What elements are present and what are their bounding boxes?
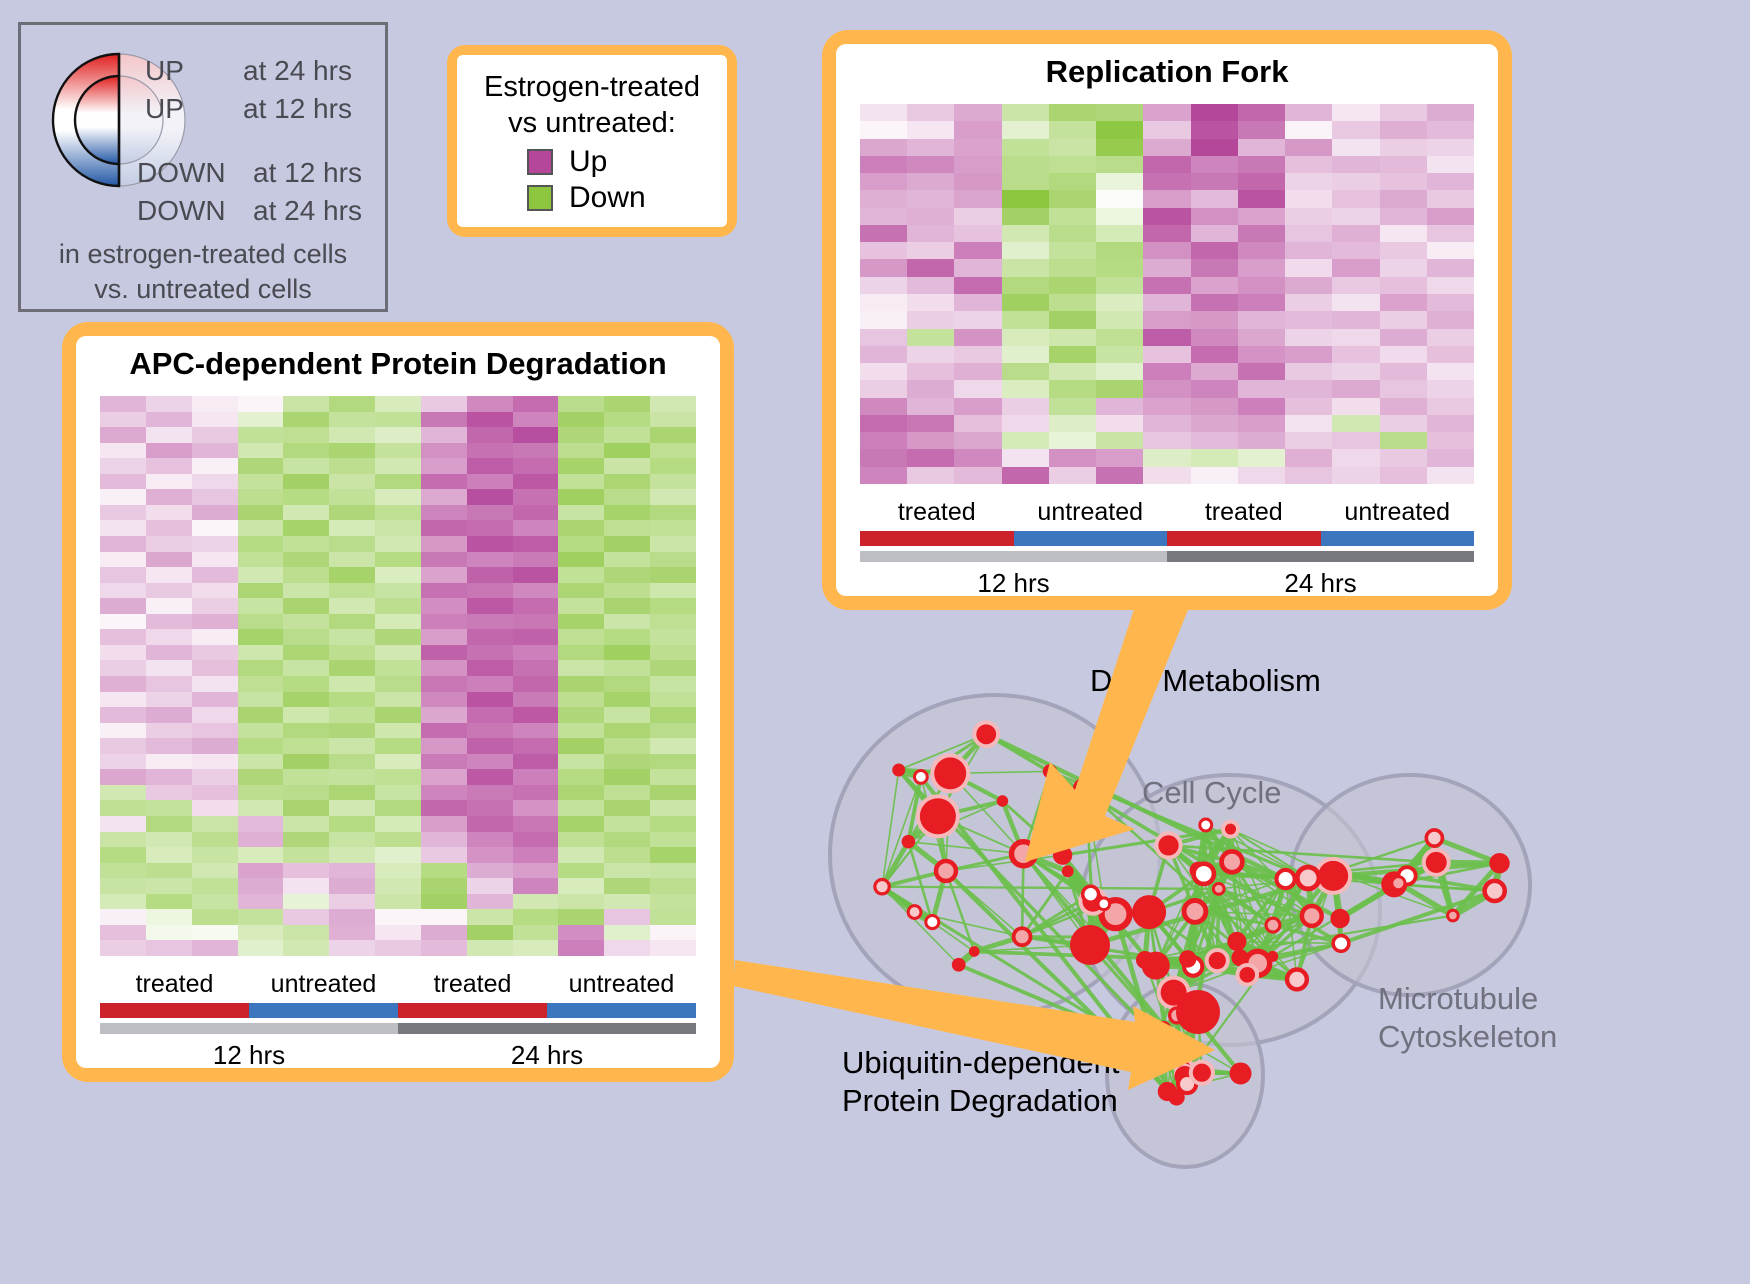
heatmap-cell [1332,398,1379,415]
heatmap-cell [1285,311,1332,328]
heatmap-cell [192,769,238,785]
heatmap-cell [1427,259,1474,276]
heatmap-cell [1191,208,1238,225]
heatmap-cell [100,598,146,614]
network-node [997,795,1008,806]
heatmap-cell [860,156,907,173]
treatment-bar-segment [398,1003,547,1018]
heatmap-cell [954,363,1001,380]
heatmap-cell [283,645,329,661]
heatmap-cell [860,329,907,346]
network-node [1128,1049,1144,1065]
heatmap-cell [1143,311,1190,328]
heatmap-cell [283,660,329,676]
heatmap-cell [1002,467,1049,484]
heatmap-cell [146,396,192,412]
heatmap-cell [238,769,284,785]
treatment-bar-segment [1321,531,1475,546]
heatmap-cell [650,598,696,614]
heatmap-cell [1002,346,1049,363]
heatmap-cell [238,816,284,832]
heatmap-cell [238,427,284,443]
heatmap-cell [100,427,146,443]
heatmap-cell [100,474,146,490]
heatmap-cell [513,707,559,723]
heatmap-cell [558,878,604,894]
apc-inner: APC-dependent Protein Degradation treate… [76,336,720,1068]
heatmap-cell [467,692,513,708]
heatmap-cell [146,723,192,739]
heatmap-cell [1332,259,1379,276]
heatmap-cell [1143,190,1190,207]
heatmap-cell [375,909,421,925]
heatmap-cell [283,863,329,879]
heatmap-cell [1143,346,1190,363]
heatmap-cell [1380,311,1427,328]
heatmap-cell [1427,208,1474,225]
heatmap-cell [146,878,192,894]
heatmap-cell [329,676,375,692]
heatmap-cell [467,536,513,552]
heatmap-cell [329,614,375,630]
heatmap-cell [421,536,467,552]
heatmap-cell [513,474,559,490]
heatmap-cell [1143,242,1190,259]
heatmap-cell [238,505,284,521]
network-node [1302,906,1322,926]
heatmap-cell [907,190,954,207]
heatmap-cell [558,940,604,956]
group-label: treated [860,498,1014,527]
heatmap-cell [192,800,238,816]
heatmap-cell [192,660,238,676]
group-label: treated [1167,498,1321,527]
heatmap-cell [238,832,284,848]
heatmap-cell [1427,329,1474,346]
heatmap-cell [146,676,192,692]
heatmap-cell [650,412,696,428]
network-node [875,880,889,894]
heatmap-cell [1049,467,1096,484]
heatmap-cell [1427,432,1474,449]
heatmap-cell [421,863,467,879]
heatmap-cell [1096,363,1143,380]
heatmap-cell [907,432,954,449]
heatmap-cell [467,847,513,863]
heatmap-cell [329,940,375,956]
heatmap-cell [375,629,421,645]
heatmap-cell [1238,277,1285,294]
heatmap-cell [1096,432,1143,449]
heatmap-cell [1096,121,1143,138]
legend-item-down: Down [527,183,717,213]
heatmap-cell [954,156,1001,173]
heatmap-cell [146,785,192,801]
heatmap-cell [421,816,467,832]
heatmap-cell [467,863,513,879]
treatment-bar-segment [547,1003,696,1018]
heatmap-cell [1427,190,1474,207]
heatmap-cell [1143,225,1190,242]
heatmap-cell [1285,415,1332,432]
heatmap-cell [375,723,421,739]
heatmap-cell [1332,121,1379,138]
heatmap-cell [467,645,513,661]
heatmap-cell [907,449,954,466]
heatmap-cell [238,552,284,568]
heatmap-cell [100,707,146,723]
heatmap-cell [1427,139,1474,156]
heatmap-cell [146,427,192,443]
legend-footer-line2: vs. untreated cells [21,272,385,307]
heatmap-cell [604,816,650,832]
heatmap-cell [192,940,238,956]
heatmap-cell [650,909,696,925]
timepoint-label: 24 hrs [398,1040,696,1071]
heatmap-cell [1285,156,1332,173]
heatmap-cell [1002,104,1049,121]
heatmap-cell [1238,398,1285,415]
heatmap-cell [329,396,375,412]
heatmap-cell [907,346,954,363]
heatmap-cell [467,443,513,459]
heatmap-cell [513,458,559,474]
heatmap-cell [1049,242,1096,259]
heatmap-cell [558,520,604,536]
heatmap-cell [467,396,513,412]
heatmap-cell [100,754,146,770]
network-node [1213,884,1224,895]
network-node [1426,852,1447,873]
heatmap-cell [329,458,375,474]
heatmap-cell [860,311,907,328]
heatmap-cell [954,208,1001,225]
heatmap-cell [558,536,604,552]
heatmap-cell [1143,467,1190,484]
heatmap-cell [954,329,1001,346]
heatmap-cell [907,467,954,484]
heatmap-cell [329,707,375,723]
network-node [1297,867,1319,889]
heatmap-cell [375,925,421,941]
network-node [1075,779,1097,801]
heatmap-cell [1238,432,1285,449]
network-node [1209,952,1226,969]
heatmap-cell [1049,415,1096,432]
heatmap-cell [650,567,696,583]
heatmap-cell [192,474,238,490]
heatmap-cell [375,443,421,459]
heatmap-cell [1427,242,1474,259]
heatmap-cell [375,583,421,599]
heatmap-cell [1096,398,1143,415]
heatmap-cell [100,847,146,863]
heatmap-cell [1096,259,1143,276]
heatmap-cell [192,723,238,739]
heatmap-cell [192,692,238,708]
legend-row-1-time: at 12 hrs [243,93,352,125]
heatmap-cell [513,598,559,614]
heatmap-cell [100,723,146,739]
heatmap-cell [283,427,329,443]
heatmap-cell [100,832,146,848]
heatmap-cell [146,489,192,505]
heatmap-cell [421,520,467,536]
heatmap-cell [1096,242,1143,259]
heatmap-cell [146,769,192,785]
heatmap-cell [1427,225,1474,242]
heatmap-cell [192,520,238,536]
heatmap-cell [283,925,329,941]
network-node [1150,1024,1167,1041]
heatmap-cell [1096,190,1143,207]
heatmap-cell [467,427,513,443]
heatmap-cell [329,443,375,459]
group-label: untreated [1321,498,1475,527]
heatmap-cell [1332,190,1379,207]
treatment-color-bar [100,1003,696,1018]
heatmap-cell [192,614,238,630]
heatmap-cell [192,754,238,770]
heatmap-cell [1380,139,1427,156]
heatmap-cell [1096,208,1143,225]
heatmap-cell [1285,121,1332,138]
heatmap-cell [283,629,329,645]
heatmap-cell [283,832,329,848]
treatment-bar-segment [1167,531,1321,546]
heatmap-cell [146,614,192,630]
heatmap-cell [1049,363,1096,380]
heatmap-cell [650,769,696,785]
heatmap-cell [1096,104,1143,121]
heatmap-cell [1002,363,1049,380]
heatmap-cell [375,769,421,785]
heatmap-cell [1285,363,1332,380]
heatmap-cell [146,474,192,490]
heatmap-cell [329,894,375,910]
heatmap-cell [329,567,375,583]
heatmap-cell [192,427,238,443]
heatmap-cell [238,785,284,801]
heatmap-cell [954,432,1001,449]
heatmap-cell [1285,104,1332,121]
heatmap-cell [1002,225,1049,242]
heatmap-cell [907,139,954,156]
treatment-bar-segment [860,531,1014,546]
heatmap-cell [1238,156,1285,173]
heatmap-cell [1380,208,1427,225]
legend-footer-line1: in estrogen-treated cells [21,237,385,272]
heatmap-cell [100,443,146,459]
heatmap-cell [650,832,696,848]
group-label: treated [100,970,249,999]
heatmap-cell [604,676,650,692]
heatmap-cell [1143,277,1190,294]
heatmap-cell [1143,208,1190,225]
heatmap-cell [238,598,284,614]
heatmap-cell [1285,259,1332,276]
heatmap-cell [375,396,421,412]
heatmap-cell [1049,208,1096,225]
heatmap-cell [558,723,604,739]
heatmap-cell [1332,449,1379,466]
heatmap-cell [604,660,650,676]
heatmap-cell [329,785,375,801]
heatmap-cell [604,723,650,739]
heatmap-cell [238,583,284,599]
treatment-bar-segment [1014,531,1168,546]
cluster-label-cell-cycle: Cell Cycle [1142,774,1282,812]
heatmap-cell [283,458,329,474]
heatmap-cell [954,415,1001,432]
network-node [1098,898,1110,910]
heatmap-cell [650,520,696,536]
legend-row-0-time: at 24 hrs [243,55,352,87]
heatmap-cell [375,847,421,863]
heatmap-cell [1049,329,1096,346]
heatmap-cell [604,878,650,894]
heatmap-cell [604,552,650,568]
apc-card: APC-dependent Protein Degradation treate… [62,322,734,1082]
timepoint-label: 12 hrs [100,1040,398,1071]
heatmap-cell [1427,173,1474,190]
heatmap-cell [375,832,421,848]
heatmap-cell [238,536,284,552]
heatmap-cell [1143,449,1190,466]
network-node [1184,900,1206,922]
heatmap-cell [467,723,513,739]
heatmap-cell [604,489,650,505]
heatmap-cell [1049,294,1096,311]
heatmap-cell [1427,380,1474,397]
heatmap-cell [1002,259,1049,276]
heatmap-cell [650,925,696,941]
timepoint-bar-segment [1167,551,1474,562]
heatmap-cell [558,443,604,459]
pathway-network: DNA Metabolism Cell Cycle Microtubule Cy… [790,620,1750,1279]
network-node [1083,886,1099,902]
heatmap-cell [1049,311,1096,328]
heatmap-cell [421,832,467,848]
legend-row-3-time: at 24 hrs [253,195,362,227]
heatmap-cell [1238,363,1285,380]
heatmap-cell [1238,173,1285,190]
heatmap-cell [1143,173,1190,190]
heatmap-cell [1143,398,1190,415]
heatmap-cell [238,692,284,708]
heatmap-cell [1332,329,1379,346]
heatmap-cell [513,878,559,894]
heatmap-cell [1380,329,1427,346]
apc-title: APC-dependent Protein Degradation [76,336,720,382]
heatmap-cell [604,427,650,443]
heatmap-cell [421,645,467,661]
heatmap-cell [954,294,1001,311]
network-node [1043,764,1057,778]
heatmap-cell [375,614,421,630]
heatmap-cell [513,723,559,739]
heatmap-cell [1238,190,1285,207]
heatmap-cell [1285,346,1332,363]
heatmap-cell [421,412,467,428]
heatmap-cell [1191,432,1238,449]
heatmap-cell [100,785,146,801]
heatmap-cell [558,567,604,583]
heatmap-cell [513,443,559,459]
heatmap-cell [1380,467,1427,484]
heatmap-cell [375,536,421,552]
heatmap-cell [1143,415,1190,432]
heatmap-cell [238,878,284,894]
heatmap-cell [1427,121,1474,138]
heatmap-cell [860,173,907,190]
heatmap-cell [1096,173,1143,190]
heatmap-cell [1002,415,1049,432]
heatmap-cell [238,800,284,816]
heatmap-cell [1238,225,1285,242]
heatmap-cell [1002,398,1049,415]
heatmap-cell [650,738,696,754]
heatmap-cell [513,583,559,599]
heatmap-cell [375,692,421,708]
heatmap-cell [1191,121,1238,138]
heatmap-cell [329,909,375,925]
network-node [1287,970,1307,990]
heatmap-cell [650,396,696,412]
heatmap-cell [513,832,559,848]
heatmap-cell [860,242,907,259]
heatmap-cell [650,427,696,443]
heatmap-cell [375,412,421,428]
heatmap-cell [421,847,467,863]
heatmap-cell [1427,346,1474,363]
heatmap-cell [1332,346,1379,363]
heatmap-cell [513,785,559,801]
heatmap-cell [604,894,650,910]
heatmap-cell [1049,259,1096,276]
heatmap-cell [1002,173,1049,190]
heatmap-cell [1143,294,1190,311]
heatmap-cell [1191,190,1238,207]
heatmap-cell [283,909,329,925]
heatmap-cell [1002,432,1049,449]
legend-row-3-value: DOWN [137,195,226,227]
group-label: treated [398,970,547,999]
heatmap-cell [1332,277,1379,294]
heatmap-cell [192,676,238,692]
heatmap-cell [238,660,284,676]
heatmap-cell [1096,311,1143,328]
heatmap-cell [1285,467,1332,484]
network-node [1158,835,1178,855]
replication-fork-title: Replication Fork [836,44,1498,90]
treatment-bar-segment [249,1003,398,1018]
heatmap-cell [513,800,559,816]
heatmap-cell [1238,259,1285,276]
heatmap-cell [421,692,467,708]
heatmap-cell [860,190,907,207]
heatmap-cell [650,660,696,676]
heatmap-cell [1002,449,1049,466]
heatmap-cell [650,723,696,739]
heatmap-cell [954,277,1001,294]
heatmap-cell [954,449,1001,466]
heatmap-cell [650,800,696,816]
heatmap-cell [421,707,467,723]
heatmap-cell [467,474,513,490]
heatmap-cell [1191,156,1238,173]
heatmap-cell [375,754,421,770]
